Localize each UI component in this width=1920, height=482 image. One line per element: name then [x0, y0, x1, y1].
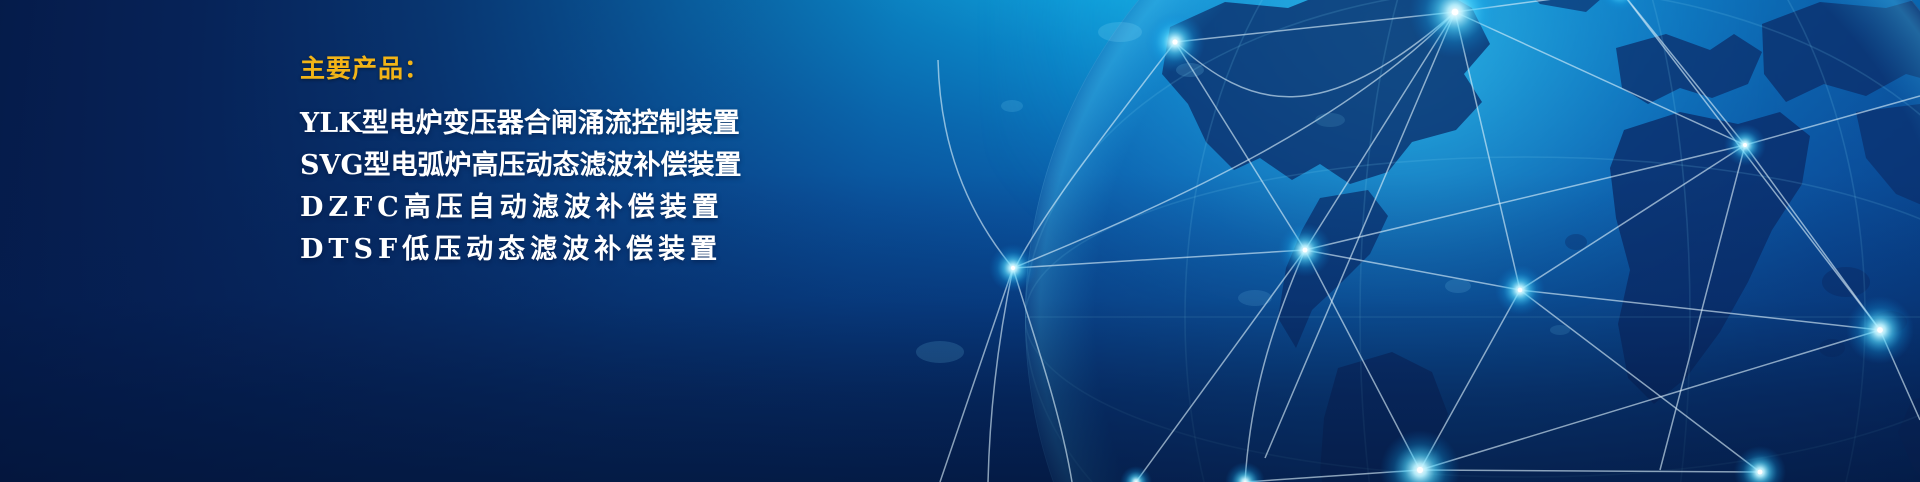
product-item: DTSF低压动态滤波补偿装置	[300, 229, 1000, 271]
network-nodes	[989, 0, 1914, 482]
product-item: DZFC高压自动滤波补偿装置	[300, 187, 1000, 229]
bokeh-specks	[916, 22, 1570, 363]
product-item: YLK型电炉变压器合闸涌流控制装置	[300, 103, 1000, 145]
node-core	[1011, 9, 1883, 475]
product-banner: 主要产品： YLK型电炉变压器合闸涌流控制装置 SVG型电弧炉高压动态滤波补偿装…	[0, 0, 1920, 482]
product-list: YLK型电炉变压器合闸涌流控制装置 SVG型电弧炉高压动态滤波补偿装置 DZFC…	[300, 103, 1000, 271]
node-glow	[989, 0, 1914, 482]
products-heading: 主要产品：	[300, 56, 1000, 81]
network-lines	[938, 0, 1920, 482]
product-copy-block: 主要产品： YLK型电炉变压器合闸涌流控制装置 SVG型电弧炉高压动态滤波补偿装…	[300, 56, 1000, 271]
product-item: SVG型电弧炉高压动态滤波补偿装置	[300, 145, 1000, 187]
